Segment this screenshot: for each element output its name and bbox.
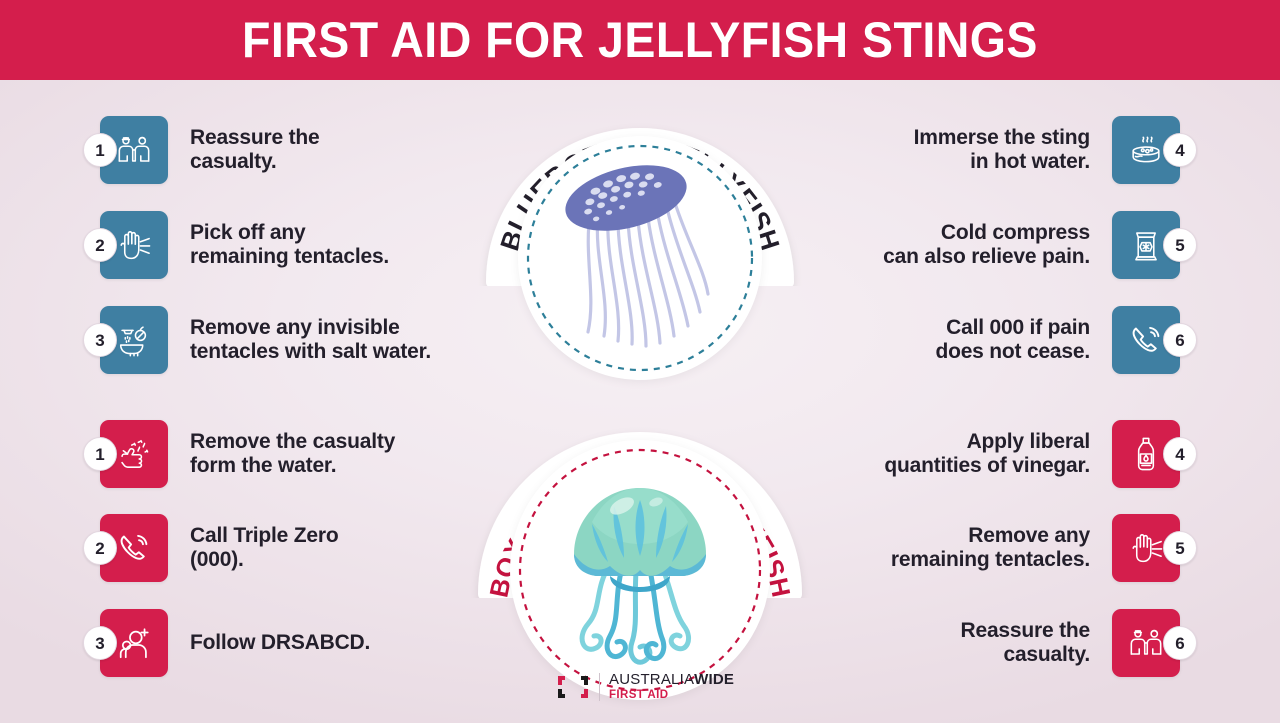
step-row[interactable]: 1 Remove the casualtyform the water. [100,416,395,492]
box-irukandji-arch-badge: BOX & IRUKANDJI JELLYFISH [456,398,824,598]
bluebottle-illustration [518,136,762,380]
step-number-badge: 5 [1163,531,1197,565]
step-number-badge: 1 [83,133,117,167]
cold-pack-icon [1124,223,1168,267]
logo-australia: AUSTRALIA [609,671,694,688]
step-row[interactable]: Immerse the stingin hot water. 4 [914,112,1180,188]
step-icon-tile[interactable]: 6 [1112,306,1180,374]
step-label: Immerse the stingin hot water. [914,126,1090,175]
infographic-canvas: FIRST AID FOR JELLYFISH STINGS 1 Reassur… [0,0,1280,723]
salt-bowl-icon [112,318,156,362]
step-number-badge: 6 [1163,323,1197,357]
step-icon-tile[interactable]: 1 [100,116,168,184]
logo-line-2: FIRST AID [609,690,734,702]
step-icon-tile[interactable]: 2 [100,211,168,279]
phone-call-icon [1124,318,1168,362]
brand-logo[interactable]: AUSTRALIAWIDE FIRST AID [556,670,734,704]
hand-tentacles-icon [112,223,156,267]
step-icon-tile[interactable]: 4 [1112,420,1180,488]
phone-call-icon [112,526,156,570]
step-number-badge: 2 [83,228,117,262]
step-icon-tile[interactable]: 4 [1112,116,1180,184]
step-icon-tile[interactable]: 2 [100,514,168,582]
australia-wide-logo-mark [556,670,590,704]
step-label: Reassure thecasualty. [190,126,320,175]
step-icon-tile[interactable]: 3 [100,609,168,677]
step-row[interactable]: 2 Pick off anyremaining tentacles. [100,207,389,283]
step-label: Remove any invisibletentacles with salt … [190,316,431,365]
step-label: Cold compresscan also relieve pain. [883,221,1090,270]
logo-line-1: AUSTRALIAWIDE [609,672,734,687]
header-bar: FIRST AID FOR JELLYFISH STINGS [0,0,1280,80]
step-label: Pick off anyremaining tentacles. [190,221,389,270]
step-label: Call Triple Zero(000). [190,524,339,573]
page-title: FIRST AID FOR JELLYFISH STINGS [242,15,1038,65]
step-icon-tile[interactable]: 6 [1112,609,1180,677]
step-label: Remove the casualtyform the water. [190,430,395,479]
step-icon-tile[interactable]: 5 [1112,211,1180,279]
two-people-icon [1124,621,1168,665]
step-row[interactable]: Cold compresscan also relieve pain. 5 [883,207,1180,283]
hot-water-bowl-icon [1124,128,1168,172]
step-row[interactable]: 1 Reassure thecasualty. [100,112,320,188]
logo-wide: WIDE [694,671,734,688]
step-icon-tile[interactable]: 1 [100,420,168,488]
step-label: Follow DRSABCD. [190,631,370,655]
step-row[interactable]: Reassure thecasualty. 6 [961,605,1181,681]
person-plus-icon [112,621,156,665]
step-icon-tile[interactable]: 3 [100,306,168,374]
step-row[interactable]: 3 Remove any invisibletentacles with sal… [100,302,431,378]
wash-hands-icon [112,432,156,476]
step-row[interactable]: Apply liberalquantities of vinegar. 4 [884,416,1180,492]
step-number-badge: 3 [83,626,117,660]
logo-text: AUSTRALIAWIDE FIRST AID [609,672,734,702]
step-row[interactable]: 3 Follow DRSABCD. [100,605,370,681]
box-jellyfish-illustration [510,440,770,700]
hand-tentacles-icon [1124,526,1168,570]
bluebottle-arch-badge: BLUEBOTTLE JELLYFISH [466,96,814,286]
step-label: Call 000 if paindoes not cease. [935,316,1090,365]
step-number-badge: 2 [83,531,117,565]
logo-divider [599,673,600,701]
step-label: Apply liberalquantities of vinegar. [884,430,1090,479]
step-number-badge: 4 [1163,133,1197,167]
two-people-icon [112,128,156,172]
step-number-badge: 5 [1163,228,1197,262]
step-label: Remove anyremaining tentacles. [891,524,1090,573]
step-number-badge: 3 [83,323,117,357]
vinegar-bottle-icon [1124,432,1168,476]
step-number-badge: 4 [1163,437,1197,471]
step-row[interactable]: Remove anyremaining tentacles. 5 [891,510,1180,586]
step-icon-tile[interactable]: 5 [1112,514,1180,582]
step-row[interactable]: 2 Call Triple Zero(000). [100,510,339,586]
step-number-badge: 1 [83,437,117,471]
step-label: Reassure thecasualty. [961,619,1091,668]
step-number-badge: 6 [1163,626,1197,660]
step-row[interactable]: Call 000 if paindoes not cease. 6 [935,302,1180,378]
